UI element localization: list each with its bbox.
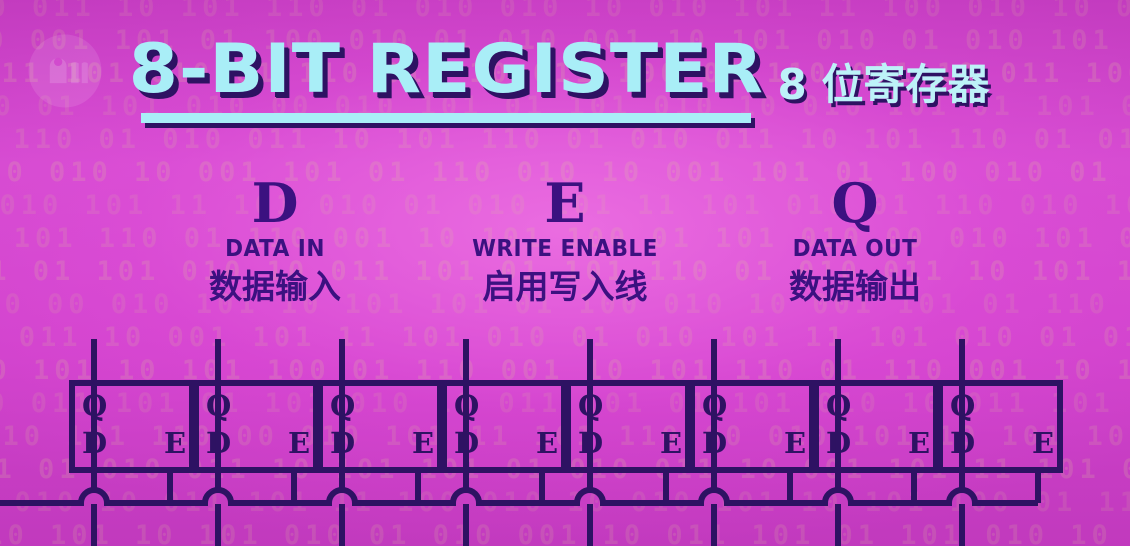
cell-8-port-q: Q bbox=[950, 392, 975, 421]
binary-row: 010 101 10 101 010 01 010 001 10 011 101… bbox=[0, 522, 1130, 546]
cell-1-port-d: D bbox=[82, 429, 107, 458]
signal-letter-q: Q bbox=[730, 176, 980, 230]
cell-7-port-e: E bbox=[908, 429, 930, 458]
cell-7-port-d: D bbox=[826, 429, 851, 458]
title-row: 8-BIT REGISTER 8 位寄存器 bbox=[0, 36, 1130, 146]
signal-chinese-data-out: 数据输出 bbox=[730, 270, 980, 303]
binary-row: 0 010 10 011 101 11 100 010 10 010 101 1… bbox=[0, 489, 1130, 516]
signal-letter-e: E bbox=[440, 176, 690, 230]
signal-letter-d: D bbox=[150, 176, 400, 230]
cell-7-port-q: Q bbox=[826, 392, 851, 421]
cell-2-port-d: D bbox=[206, 429, 231, 458]
page-title: 8-BIT REGISTER bbox=[128, 36, 763, 104]
cell-4-port-d: D bbox=[454, 429, 479, 458]
binary-row: 101 01 010 011 10 101 101 01 010 011 10 … bbox=[0, 456, 1130, 483]
signal-english-write-enable: WRITE ENABLE bbox=[448, 238, 683, 261]
cell-1-port-e: E bbox=[164, 429, 186, 458]
signal-chinese-write-enable: 启用写入线 bbox=[440, 270, 690, 303]
signal-english-data-in: DATA IN bbox=[158, 238, 393, 261]
cell-1-port-q: Q bbox=[82, 392, 107, 421]
page-title-translation: 8 位寄存器 bbox=[777, 64, 989, 106]
signal-label-row: D DATA IN 数据输入 E WRITE ENABLE 启用写入线 Q DA… bbox=[150, 176, 980, 303]
cell-2-port-e: E bbox=[288, 429, 310, 458]
cell-5-port-q: Q bbox=[578, 392, 603, 421]
signal-label-write-enable: E WRITE ENABLE 启用写入线 bbox=[440, 176, 690, 303]
title-underline bbox=[141, 113, 752, 123]
cell-8-port-d: D bbox=[950, 429, 975, 458]
wire-enable-bus bbox=[0, 490, 1038, 503]
binary-row: 10 011 10 001 101 11 101 010 01 010 101 … bbox=[0, 324, 1130, 351]
cell-4-port-q: Q bbox=[454, 392, 479, 421]
binary-row: 010 101 10 101 100 01 110 001 10 101 110… bbox=[0, 357, 1130, 384]
cell-8-port-e: E bbox=[1032, 429, 1054, 458]
cell-6-port-e: E bbox=[784, 429, 806, 458]
cell-3-port-d: D bbox=[330, 429, 355, 458]
title-block: 8-BIT REGISTER bbox=[141, 36, 752, 123]
signal-label-data-in: D DATA IN 数据输入 bbox=[150, 176, 400, 303]
cell-3-port-e: E bbox=[412, 429, 434, 458]
cell-6-port-d: D bbox=[702, 429, 727, 458]
cell-2-port-q: Q bbox=[206, 392, 231, 421]
cell-3-port-q: Q bbox=[330, 392, 355, 421]
cell-5-port-d: D bbox=[578, 429, 603, 458]
binary-row: 010 011 10 101 110 01 010 010 10 010 101… bbox=[0, 0, 1130, 21]
signal-english-data-out: DATA OUT bbox=[738, 238, 973, 261]
signal-label-data-out: Q DATA OUT 数据输出 bbox=[730, 176, 980, 303]
cell-4-port-e: E bbox=[536, 429, 558, 458]
signal-chinese-data-in: 数据输入 bbox=[150, 270, 400, 303]
cell-5-port-e: E bbox=[660, 429, 682, 458]
register-diagram-slide: 010 011 10 101 110 01 010 010 10 010 101… bbox=[0, 0, 1130, 546]
cell-6-port-q: Q bbox=[702, 392, 727, 421]
